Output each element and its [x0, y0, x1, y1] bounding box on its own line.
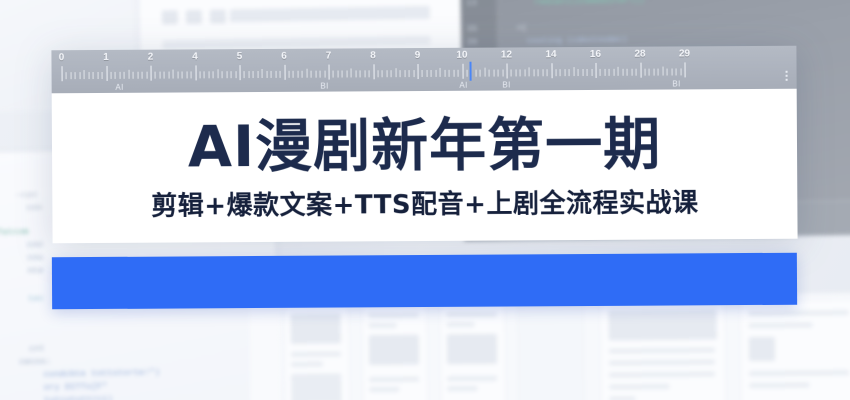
ruler-minor-tick — [155, 72, 156, 79]
accent-bar — [52, 253, 797, 310]
ruler-minor-tick — [578, 69, 579, 76]
card-thumbnail — [749, 337, 775, 361]
ruler-minor-tick — [538, 69, 539, 76]
doc-bar — [230, 6, 430, 22]
page-title: AI漫剧新年第一期 — [52, 115, 797, 179]
ruler-major-tick — [418, 64, 419, 79]
card-text-line — [369, 323, 397, 328]
card-text-line — [749, 322, 813, 328]
strip-card — [283, 304, 350, 400]
ruler-minor-tick — [555, 69, 556, 76]
promo-banner-canvas: 13 35 26 77 85 redianl(itemedstcerl)) <(… — [0, 0, 850, 400]
ruler-minor-tick — [658, 69, 659, 76]
ruler-minor-tick — [449, 70, 450, 77]
ruler-tick-label: 8 — [370, 50, 376, 61]
ruler-minor-tick — [266, 71, 267, 78]
ruler-minor-tick — [159, 72, 160, 79]
ruler-major-tick — [596, 63, 597, 78]
code-line: —cpo — [16, 190, 37, 200]
ruler-minor-tick — [480, 70, 481, 77]
card-text-line — [749, 382, 809, 388]
card-text-line — [369, 377, 419, 383]
code-line: costing (cdestnodec) — [527, 36, 627, 47]
ruler-minor-tick — [306, 69, 307, 78]
ruler-minor-tick — [70, 72, 71, 79]
ruler-minor-tick — [93, 72, 94, 79]
ruler-tick-label: 1 — [103, 52, 109, 63]
ruler-minor-tick — [315, 71, 316, 78]
ruler-cursor[interactable] — [469, 62, 471, 81]
ruler-minor-tick — [489, 70, 490, 77]
ruler-minor-tick — [426, 70, 427, 77]
card-text-line — [749, 310, 849, 316]
ruler-tick-label: 6 — [281, 51, 287, 62]
card-text-line — [609, 371, 715, 377]
code-line: coo — [27, 240, 43, 250]
ruler-minor-tick — [409, 70, 410, 77]
ruler-minor-tick — [208, 71, 209, 78]
card-thumbnail — [609, 309, 717, 340]
code-line: cou — [27, 253, 43, 263]
ruler-minor-tick — [453, 70, 454, 77]
ruler-minor-tick — [173, 70, 174, 79]
ruler-minor-tick — [119, 72, 120, 79]
ruler-minor-tick — [515, 69, 516, 76]
code-line: condcbte tottstorte!") — [43, 367, 160, 379]
ruler-minor-tick — [217, 69, 218, 78]
ruler-minor-tick — [662, 67, 663, 76]
code-line: tutcotottrc1) — [44, 394, 113, 400]
ruler-minor-tick — [204, 71, 205, 78]
doc-chip — [210, 9, 226, 23]
ruler-minor-tick — [444, 70, 445, 77]
ruler-minor-tick — [431, 70, 432, 77]
ruler-major-tick — [62, 66, 63, 81]
ruler-minor-tick — [667, 69, 668, 76]
doc-chip — [186, 10, 202, 24]
ruler-minor-tick — [191, 71, 192, 78]
ruler-tick-label: 14 — [545, 49, 556, 60]
ruler-minor-tick — [186, 71, 187, 78]
ruler-major-tick — [240, 65, 241, 80]
ruler-minor-tick — [377, 70, 378, 77]
card-text-line — [749, 370, 849, 376]
ruler-major-tick — [551, 63, 552, 78]
ruler-marker: BI — [672, 79, 681, 88]
ruler-minor-tick — [653, 69, 654, 76]
ruler-major-tick — [329, 65, 330, 80]
ruler-minor-tick — [248, 71, 249, 78]
ruler-minor-tick — [346, 70, 347, 77]
ruler-tick-label: 10 — [456, 50, 467, 61]
ruler-minor-tick — [311, 71, 312, 78]
ruler-minor-tick — [636, 69, 637, 76]
ruler-minor-tick — [110, 72, 111, 79]
doc-chip — [162, 10, 178, 24]
ruler-minor-tick — [591, 69, 592, 76]
ruler-minor-tick — [360, 70, 361, 77]
ruler-tick-label: 12 — [501, 49, 512, 60]
ruler-minor-tick — [493, 70, 494, 77]
code-line: cecos: — [19, 356, 51, 367]
ruler-minor-tick — [386, 70, 387, 77]
ruler-tick-label: 7 — [326, 51, 332, 62]
ruler-minor-tick — [466, 70, 467, 77]
ruler-minor-tick — [484, 68, 485, 77]
ruler-minor-tick — [146, 72, 147, 79]
ruler-minor-tick — [440, 68, 441, 77]
code-line: cnt — [29, 344, 45, 354]
code-line-number: 26 — [467, 38, 478, 47]
ruler-minor-tick — [364, 70, 365, 77]
ruler-minor-tick — [564, 69, 565, 76]
vertical-grip-icon[interactable] — [786, 71, 788, 83]
code-line: tec — [28, 294, 44, 304]
ruler-minor-tick — [502, 70, 503, 77]
ruler-minor-tick — [324, 71, 325, 78]
ruler-minor-tick — [320, 71, 321, 78]
ruler-minor-tick — [231, 71, 232, 78]
ruler-minor-tick — [511, 69, 512, 76]
ruler-minor-tick — [257, 71, 258, 78]
ruler-minor-tick — [168, 72, 169, 79]
ruler-tick-label: 0 — [59, 52, 65, 63]
code-line: coo — [26, 203, 42, 213]
ruler-minor-tick — [582, 69, 583, 76]
ruler-minor-tick — [271, 71, 272, 78]
ruler-minor-tick — [600, 69, 601, 76]
background-card-strip — [279, 293, 850, 400]
strip-card — [739, 299, 850, 400]
ruler-minor-tick — [142, 72, 143, 79]
ruler-tick-label: 2 — [148, 52, 154, 63]
ruler-minor-tick — [177, 72, 178, 79]
ruler-minor-tick — [88, 72, 89, 79]
card-thumbnail — [291, 313, 341, 344]
strip-card — [599, 300, 726, 400]
ruler-minor-tick — [676, 68, 677, 75]
ruler-minor-tick — [293, 71, 294, 78]
card-text-line — [447, 322, 475, 327]
ruler-minor-tick — [302, 71, 303, 78]
ruler-minor-tick — [498, 70, 499, 77]
ruler-marker: AI — [459, 81, 468, 90]
ruler-minor-tick — [333, 71, 334, 78]
ruler-minor-tick — [382, 70, 383, 77]
ruler-tick-label: 9 — [415, 50, 421, 61]
ruler-marker: AI — [115, 83, 124, 92]
ruler-minor-tick — [587, 69, 588, 76]
card-text-line — [447, 386, 477, 391]
card-text-line — [369, 313, 419, 319]
ruler-major-tick — [685, 62, 686, 77]
ruler-tick-label: 28 — [634, 49, 645, 60]
ruler-tick-label: 16 — [590, 49, 601, 60]
ruler-minor-tick — [627, 69, 628, 76]
ruler-minor-tick — [649, 69, 650, 76]
code-line: redianl(itemedstcerl)) — [534, 0, 644, 7]
ruler-minor-tick — [182, 71, 183, 78]
ruler-minor-tick — [288, 71, 289, 78]
ruler-minor-tick — [613, 69, 614, 76]
ruler-major-tick — [151, 66, 152, 81]
ruler-minor-tick — [560, 69, 561, 76]
ruler-major-tick — [106, 66, 107, 81]
ruler-minor-tick — [297, 71, 298, 78]
ruler-minor-tick — [355, 70, 356, 77]
page-subtitle: 剪辑+爆款文案+TTS配音+上剧全流程实战课 — [52, 189, 797, 222]
card-text-line — [609, 359, 715, 365]
ruler-minor-tick — [137, 72, 138, 79]
ruler-minor-tick — [102, 72, 103, 79]
ruler-major-tick — [640, 63, 641, 78]
ruler-major-tick — [462, 64, 463, 79]
ruler-minor-tick — [262, 69, 263, 78]
ruler-minor-tick — [524, 69, 525, 76]
strip-card — [361, 303, 428, 400]
ruler-minor-tick — [75, 72, 76, 79]
ruler-minor-tick — [618, 67, 619, 76]
code-line: ory DITTs[F" — [44, 381, 108, 392]
ruler-minor-tick — [66, 72, 67, 79]
ruler-major-tick — [373, 64, 374, 79]
card-text-line — [609, 396, 635, 400]
ruler-minor-tick — [644, 69, 645, 76]
ruler-minor-tick — [533, 69, 534, 76]
code-line: <( — [517, 24, 527, 33]
ruler-minor-tick — [569, 69, 570, 76]
ruler-minor-tick — [124, 72, 125, 79]
ruler-minor-tick — [253, 71, 254, 78]
ruler-minor-tick — [573, 67, 574, 76]
ruler-tick-label: 4 — [192, 51, 198, 62]
ruler-minor-tick — [79, 72, 80, 79]
card-text-line — [369, 387, 399, 392]
ruler-minor-tick — [520, 69, 521, 76]
ruler-minor-tick — [604, 69, 605, 76]
ruler-minor-tick — [115, 72, 116, 79]
code-line: nte — [27, 266, 43, 276]
ruler-minor-tick — [128, 70, 129, 79]
card-text-line — [609, 384, 669, 390]
ruler-minor-tick — [280, 71, 281, 78]
ruler-minor-tick — [369, 70, 370, 77]
ruler-minor-tick — [631, 69, 632, 76]
ruler-minor-tick — [222, 71, 223, 78]
ruler-minor-tick — [435, 70, 436, 77]
code-line-number: 35 — [467, 25, 478, 34]
ruler-minor-tick — [404, 70, 405, 77]
ruler-minor-tick — [413, 70, 414, 77]
ruler-minor-tick — [213, 71, 214, 78]
promo-card-body: AI漫剧新年第一期 剪辑+爆款文案+TTS配音+上剧全流程实战课 — [52, 89, 798, 244]
card-text-line — [291, 351, 341, 357]
ruler-minor-tick — [275, 71, 276, 78]
strip-card — [517, 302, 584, 400]
card-text-line — [447, 312, 497, 318]
ruler-minor-tick — [226, 71, 227, 78]
ruler-minor-tick — [235, 71, 236, 78]
ruler-minor-tick — [199, 71, 200, 78]
ruler-minor-tick — [529, 67, 530, 76]
ruler-minor-tick — [351, 68, 352, 77]
ruler-marker: BI — [502, 80, 511, 89]
ruler-minor-tick — [133, 72, 134, 79]
ruler-minor-tick — [422, 70, 423, 77]
card-thumbnail — [447, 334, 497, 365]
ruler-minor-tick — [547, 69, 548, 76]
strip-card — [439, 303, 506, 400]
ruler-minor-tick — [475, 70, 476, 77]
ruler-major-tick — [507, 63, 508, 78]
ruler-minor-tick — [395, 68, 396, 77]
ruler-minor-tick — [391, 70, 392, 77]
card-text-line — [609, 347, 715, 353]
ruler-minor-tick — [542, 69, 543, 76]
ruler-tick-label: 29 — [679, 48, 690, 59]
ruler-minor-tick — [342, 70, 343, 77]
ruler-marker: BI — [320, 82, 329, 91]
card-text-line — [291, 373, 341, 400]
card-thumbnail — [369, 335, 419, 366]
ruler-minor-tick — [400, 70, 401, 77]
ruler-minor-tick — [458, 70, 459, 77]
doc-chip-group — [162, 9, 226, 24]
ruler-tick-label: 5 — [237, 51, 243, 62]
card-text-line — [447, 376, 497, 382]
code-line: fatcom — [0, 227, 29, 238]
ruler-minor-tick — [84, 70, 85, 79]
ruler-minor-tick — [622, 69, 623, 76]
code-line-number: 13 — [467, 0, 478, 8]
ruler-minor-tick — [97, 72, 98, 79]
ruler-minor-tick — [680, 68, 681, 75]
ruler-major-tick — [195, 65, 196, 80]
ruler-bar[interactable]: 012456789101214162829 AI BI AI BI BI — [51, 46, 796, 94]
ruler-major-tick — [284, 65, 285, 80]
ruler-minor-tick — [609, 69, 610, 76]
card-text-line — [291, 362, 323, 367]
ruler-minor-tick — [337, 71, 338, 78]
ruler-minor-tick — [244, 71, 245, 78]
ruler-minor-tick — [164, 72, 165, 79]
ruler-minor-tick — [671, 68, 672, 75]
promo-card: 012456789101214162829 AI BI AI BI BI AI漫… — [51, 46, 797, 244]
